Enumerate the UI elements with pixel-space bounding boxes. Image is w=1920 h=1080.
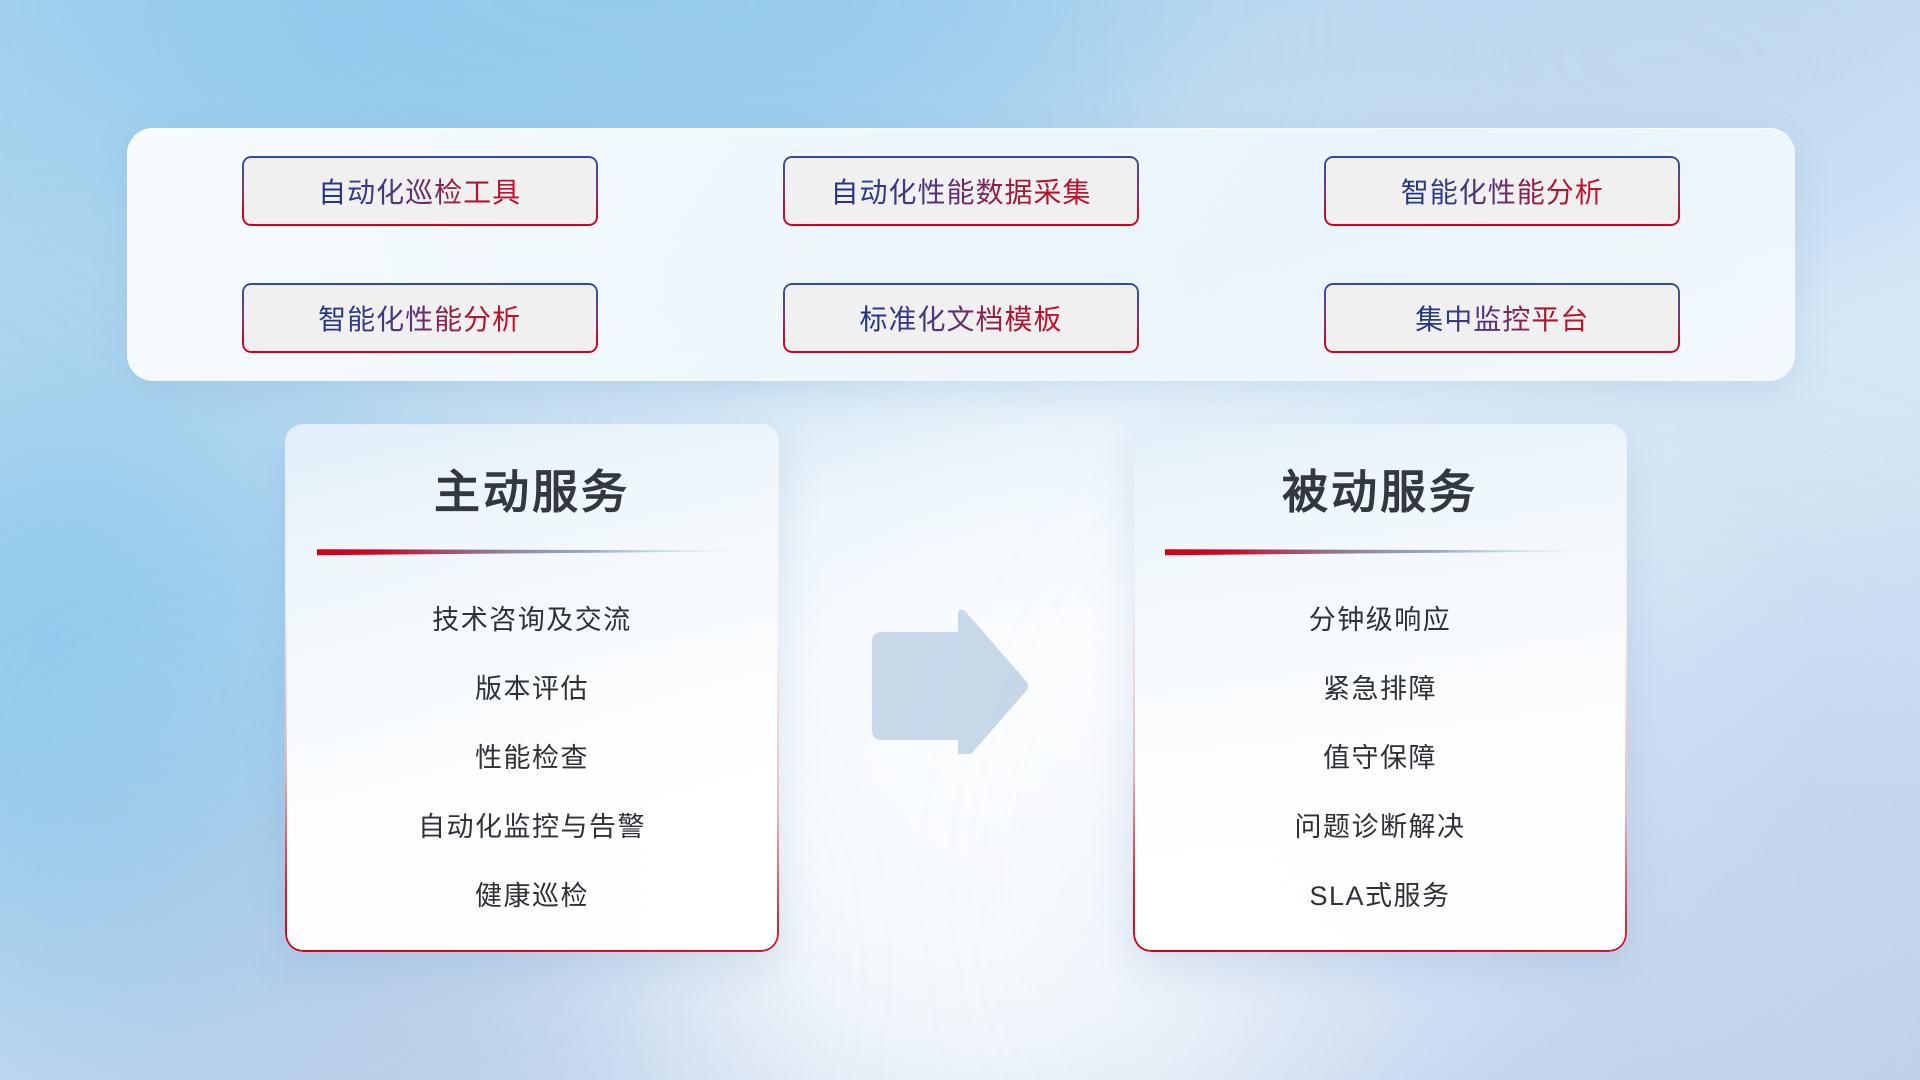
service-item: 技术咨询及交流: [285, 586, 779, 655]
capability-tag[interactable]: 自动化性能数据采集: [783, 156, 1139, 226]
service-item-list: 技术咨询及交流 版本评估 性能检查 自动化监控与告警 健康巡检: [285, 556, 779, 931]
service-item: 分钟级响应: [1133, 586, 1627, 655]
capability-tag-label: 自动化性能数据采集: [830, 171, 1091, 211]
slide-canvas: 自动化巡检工具 自动化性能数据采集 智能化性能分析 智能化性能分析 标准化文档模…: [0, 0, 1920, 1080]
service-item: 健康巡检: [285, 862, 779, 931]
service-item: SLA式服务: [1133, 862, 1627, 931]
service-item: 版本评估: [285, 655, 779, 724]
service-card-passive: 被动服务 分钟级响应 紧急排障 值守保障: [1133, 424, 1627, 952]
service-item: 紧急排障: [1133, 655, 1627, 724]
service-item: 性能检查: [285, 724, 779, 793]
service-card-title: 被动服务: [1133, 424, 1627, 522]
service-item: 问题诊断解决: [1133, 793, 1627, 862]
title-divider: [1165, 546, 1595, 556]
service-item-list: 分钟级响应 紧急排障 值守保障 问题诊断解决 SLA式服务: [1133, 556, 1627, 931]
service-item: 值守保障: [1133, 724, 1627, 793]
capability-tag-label: 智能化性能分析: [318, 298, 521, 338]
capability-tag-label: 智能化性能分析: [1401, 171, 1604, 211]
capability-tag[interactable]: 集中监控平台: [1324, 283, 1680, 353]
service-card-active: 主动服务 技术咨询及交流 版本评估 性能检查: [285, 424, 779, 952]
arrow-right-icon: [866, 606, 1032, 754]
capability-tag[interactable]: 智能化性能分析: [1324, 156, 1680, 226]
service-card-title: 主动服务: [285, 424, 779, 522]
capability-tag[interactable]: 自动化巡检工具: [242, 156, 598, 226]
capability-tag-label: 自动化巡检工具: [318, 171, 521, 211]
capability-tag[interactable]: 标准化文档模板: [783, 283, 1139, 353]
service-item: 自动化监控与告警: [285, 793, 779, 862]
title-divider: [317, 546, 747, 556]
capability-tag-label: 标准化文档模板: [859, 298, 1062, 338]
capability-tag[interactable]: 智能化性能分析: [242, 283, 598, 353]
capability-tag-label: 集中监控平台: [1415, 298, 1589, 338]
capabilities-panel: 自动化巡检工具 自动化性能数据采集 智能化性能分析 智能化性能分析 标准化文档模…: [127, 128, 1795, 381]
